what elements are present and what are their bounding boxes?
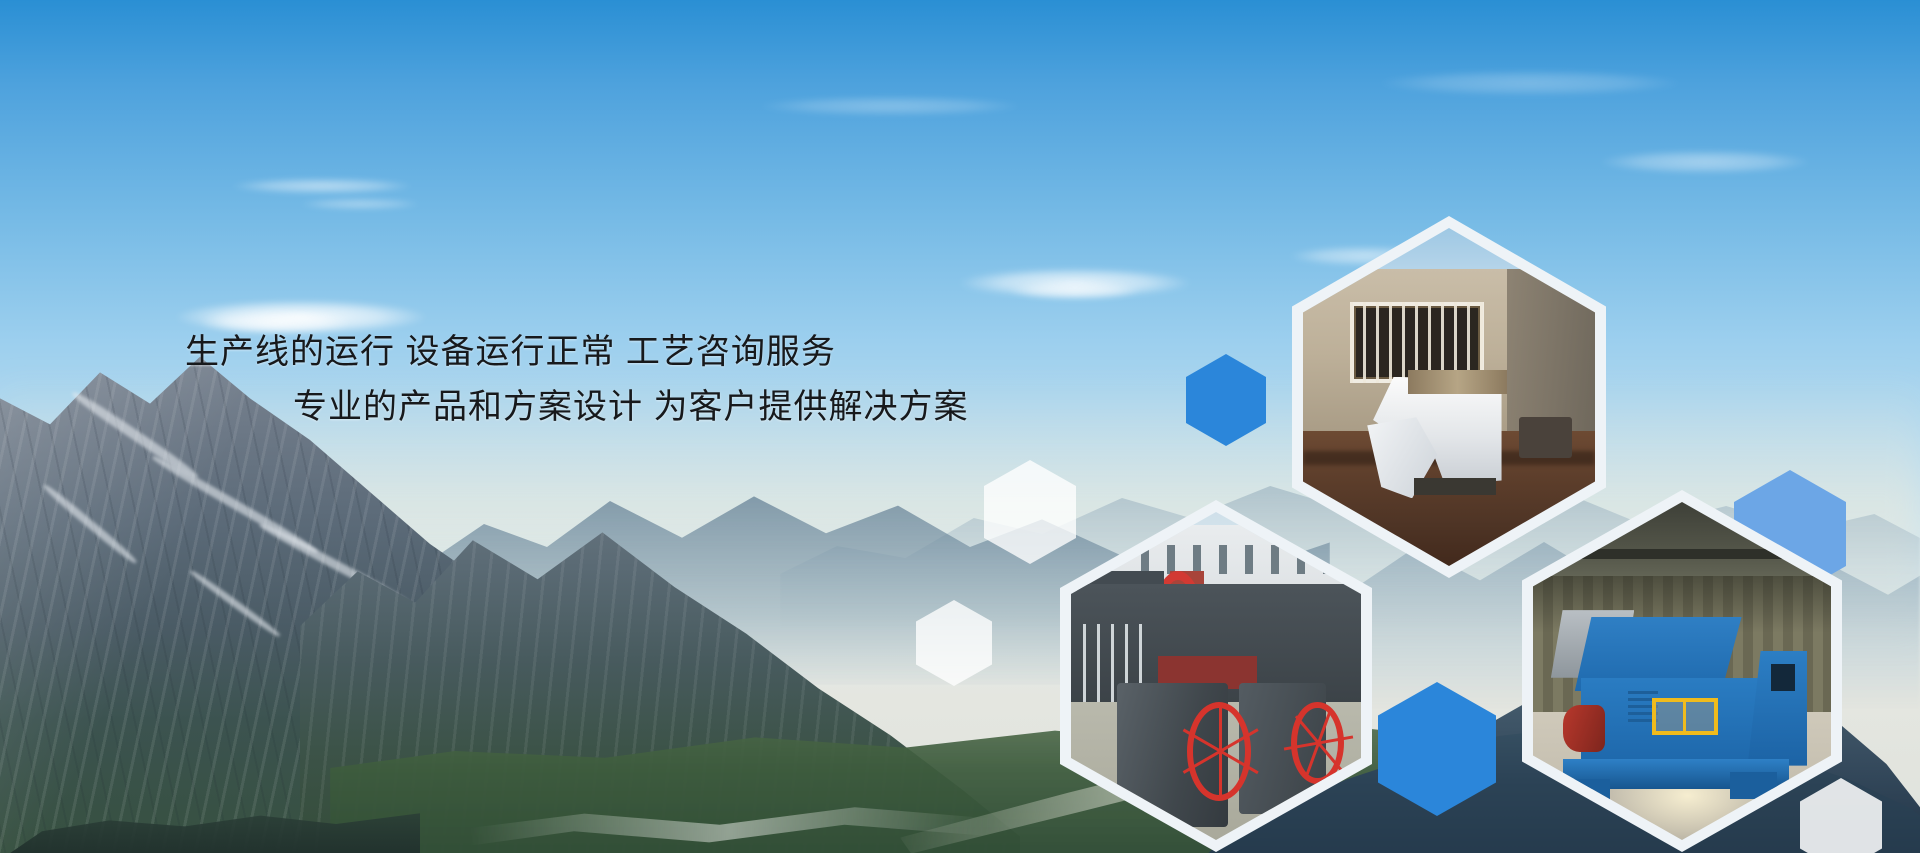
cloud [300, 198, 420, 210]
cloud [1600, 150, 1810, 174]
headline-line-2: 专业的产品和方案设计 为客户提供解决方案 [185, 380, 1135, 435]
photo-machine-base [1414, 478, 1496, 495]
photo-red-handwheel [1187, 702, 1251, 800]
photo-red-motor [1563, 705, 1605, 752]
headline-block: 生产线的运行 设备运行正常 工艺咨询服务 专业的产品和方案设计 为客户提供解决方… [185, 325, 1135, 435]
cloud [1380, 70, 1680, 96]
cloud [1010, 282, 1140, 300]
hero-banner: 生产线的运行 设备运行正常 工艺咨询服务 专业的产品和方案设计 为客户提供解决方… [0, 0, 1920, 853]
photo-ladle-flange [1408, 370, 1507, 394]
photo-cabinet-window [1771, 664, 1795, 691]
headline-line-1: 生产线的运行 设备运行正常 工艺咨询服务 [185, 325, 1135, 380]
photo-background-object [1519, 417, 1572, 458]
cloud [232, 178, 412, 194]
photo-red-handwheel [1291, 702, 1343, 784]
cloud [760, 96, 1020, 116]
photo-yellow-guard-bar [1683, 698, 1686, 735]
